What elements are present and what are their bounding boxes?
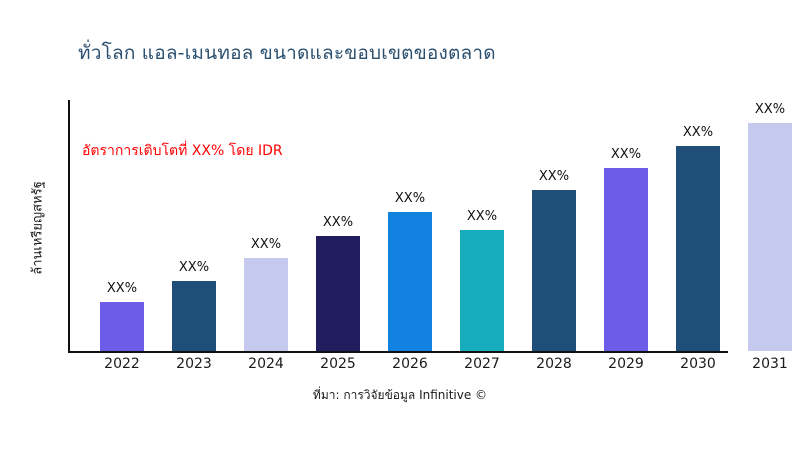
bar-group[interactable]: XX% <box>676 146 720 351</box>
x-tick-2027: 2027 <box>446 356 518 372</box>
bar-2029[interactable] <box>604 168 648 351</box>
x-tick-2028: 2028 <box>518 356 590 372</box>
bar-value-label: XX% <box>158 260 230 275</box>
bar-group[interactable]: XX% <box>100 302 144 351</box>
bar-2023[interactable] <box>172 281 216 351</box>
bar-group[interactable]: XX% <box>316 236 360 351</box>
bar-value-label: XX% <box>518 169 590 184</box>
bar-group[interactable]: XX% <box>172 281 216 351</box>
bar-value-label: XX% <box>86 281 158 296</box>
bar-value-label: XX% <box>302 215 374 230</box>
bar-2030[interactable] <box>676 146 720 351</box>
x-tick-2026: 2026 <box>374 356 446 372</box>
x-tick-2022: 2022 <box>86 356 158 372</box>
bar-2025[interactable] <box>316 236 360 351</box>
bar-2022[interactable] <box>100 302 144 351</box>
bar-group[interactable]: XX% <box>244 258 288 351</box>
x-tick-2023: 2023 <box>158 356 230 372</box>
bars-layer: XX%XX%XX%XX%XX%XX%XX%XX%XX%XX% <box>0 100 800 353</box>
bar-value-label: XX% <box>590 147 662 162</box>
bar-group[interactable]: XX% <box>748 123 792 351</box>
x-tick-2031: 2031 <box>734 356 800 372</box>
x-tick-2025: 2025 <box>302 356 374 372</box>
bar-value-label: XX% <box>734 102 800 117</box>
x-tick-2029: 2029 <box>590 356 662 372</box>
bar-value-label: XX% <box>446 209 518 224</box>
bar-value-label: XX% <box>662 125 734 140</box>
x-axis-tick-labels: 2022202320242025202620272028202920302031 <box>0 356 800 378</box>
bar-2028[interactable] <box>532 190 576 351</box>
bar-value-label: XX% <box>230 237 302 252</box>
bar-2027[interactable] <box>460 230 504 351</box>
x-tick-2030: 2030 <box>662 356 734 372</box>
bar-group[interactable]: XX% <box>604 168 648 351</box>
bar-2024[interactable] <box>244 258 288 351</box>
source-note: ที่มา: การวิจัยข้อมูล Infinitive © <box>0 386 800 405</box>
bar-group[interactable]: XX% <box>460 230 504 351</box>
bar-2026[interactable] <box>388 212 432 351</box>
bar-value-label: XX% <box>374 191 446 206</box>
bar-group[interactable]: XX% <box>532 190 576 351</box>
chart-title: ทั่วโลก แอล-เมนทอล ขนาดและขอบเขตของตลาด <box>78 40 496 66</box>
x-tick-2024: 2024 <box>230 356 302 372</box>
bar-2031[interactable] <box>748 123 792 351</box>
bar-group[interactable]: XX% <box>388 212 432 351</box>
